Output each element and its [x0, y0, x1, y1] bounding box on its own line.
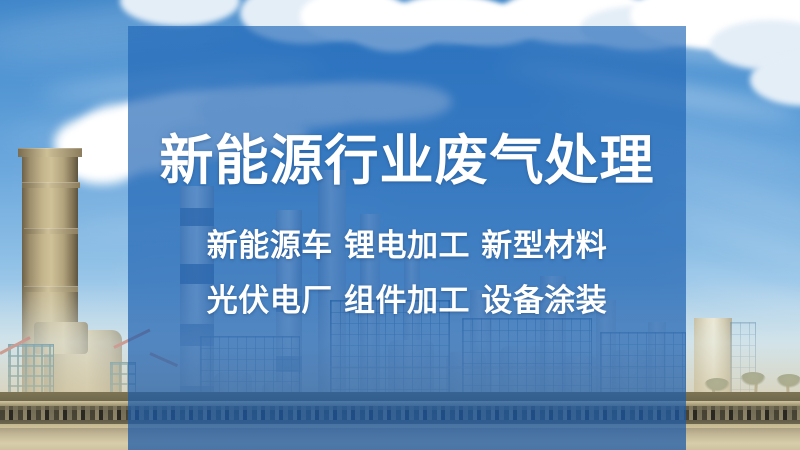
smokestack-lip — [24, 228, 78, 234]
banner-text-group: 新能源行业废气处理 新能源车 锂电加工 新型材料 光伏电厂 组件加工 设备涂装 — [128, 26, 686, 450]
banner-headline: 新能源行业废气处理 — [140, 132, 674, 190]
banner-subtitle-line-1: 新能源车 锂电加工 新型材料 — [140, 229, 674, 263]
smokestack-lip — [22, 182, 80, 188]
smokestack-lip — [18, 148, 82, 157]
banner-subtitle-line-2: 光伏电厂 组件加工 设备涂装 — [140, 284, 674, 318]
promo-banner: 新能源行业废气处理 新能源车 锂电加工 新型材料 光伏电厂 组件加工 设备涂装 — [0, 0, 800, 450]
